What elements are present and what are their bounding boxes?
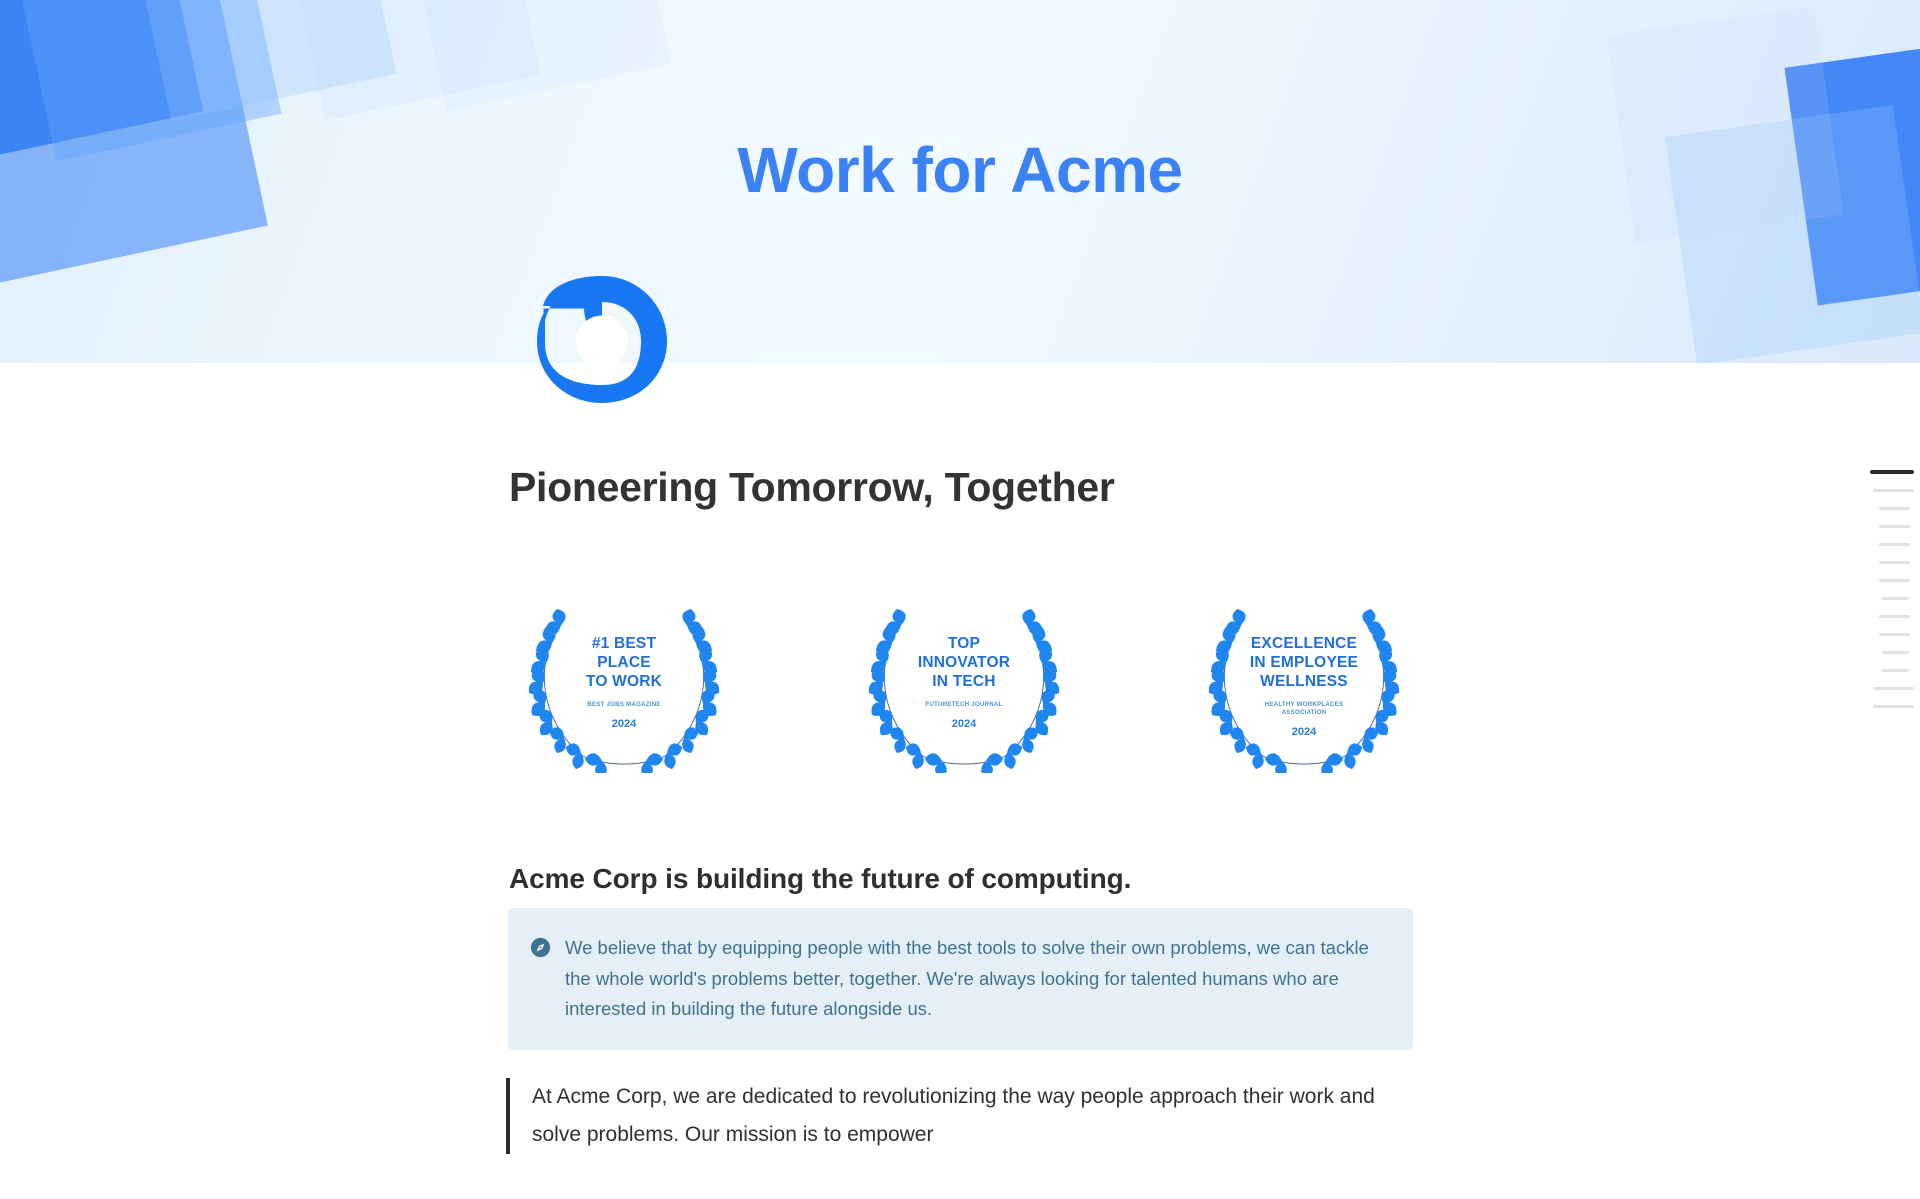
outline-item[interactable] — [1879, 615, 1910, 618]
laurel-wreath-icon — [1189, 603, 1419, 773]
award-badge: EXCELLENCE IN EMPLOYEE WELLNESS HEALTHY … — [1189, 603, 1419, 773]
outline-item[interactable] — [1882, 651, 1909, 654]
mission-callout: We believe that by equipping people with… — [508, 908, 1413, 1050]
outline-item[interactable] — [1873, 705, 1914, 708]
award-badge: TOP INNOVATOR IN TECH FUTURETECH JOURNAL… — [849, 603, 1079, 773]
outline-item[interactable] — [1879, 561, 1910, 564]
acme-logo — [528, 272, 676, 404]
page-root: Work for Acme Pioneering Tomorrow, Toget… — [0, 0, 1920, 1199]
awards-row: #1 BEST PLACE TO WORK BEST JOBS MAGAZINE… — [509, 603, 1419, 773]
laurel-wreath-icon — [509, 603, 739, 773]
page-title: Pioneering Tomorrow, Together — [509, 464, 1115, 511]
hero-title: Work for Acme — [0, 133, 1920, 207]
outline-item[interactable] — [1879, 633, 1910, 636]
compass-icon — [530, 937, 551, 958]
outline-item[interactable] — [1879, 507, 1910, 510]
outline-item[interactable] — [1870, 470, 1914, 474]
deco-square — [1606, 6, 1843, 243]
document-outline-minimap[interactable] — [1870, 470, 1918, 708]
about-quote-block: At Acme Corp, we are dedicated to revolu… — [506, 1078, 1406, 1154]
about-quote-text: At Acme Corp, we are dedicated to revolu… — [532, 1078, 1406, 1154]
section-subheading: Acme Corp is building the future of comp… — [509, 863, 1131, 895]
outline-item[interactable] — [1873, 489, 1914, 492]
outline-item[interactable] — [1879, 543, 1910, 546]
mission-callout-text: We believe that by equipping people with… — [565, 933, 1383, 1025]
laurel-wreath-icon — [849, 603, 1079, 773]
outline-item[interactable] — [1879, 579, 1910, 582]
outline-item[interactable] — [1882, 669, 1909, 672]
outline-item[interactable] — [1873, 687, 1914, 690]
outline-item[interactable] — [1882, 597, 1909, 600]
outline-item[interactable] — [1879, 525, 1910, 528]
hero-section: Work for Acme — [0, 0, 1920, 363]
award-badge: #1 BEST PLACE TO WORK BEST JOBS MAGAZINE… — [509, 603, 739, 773]
